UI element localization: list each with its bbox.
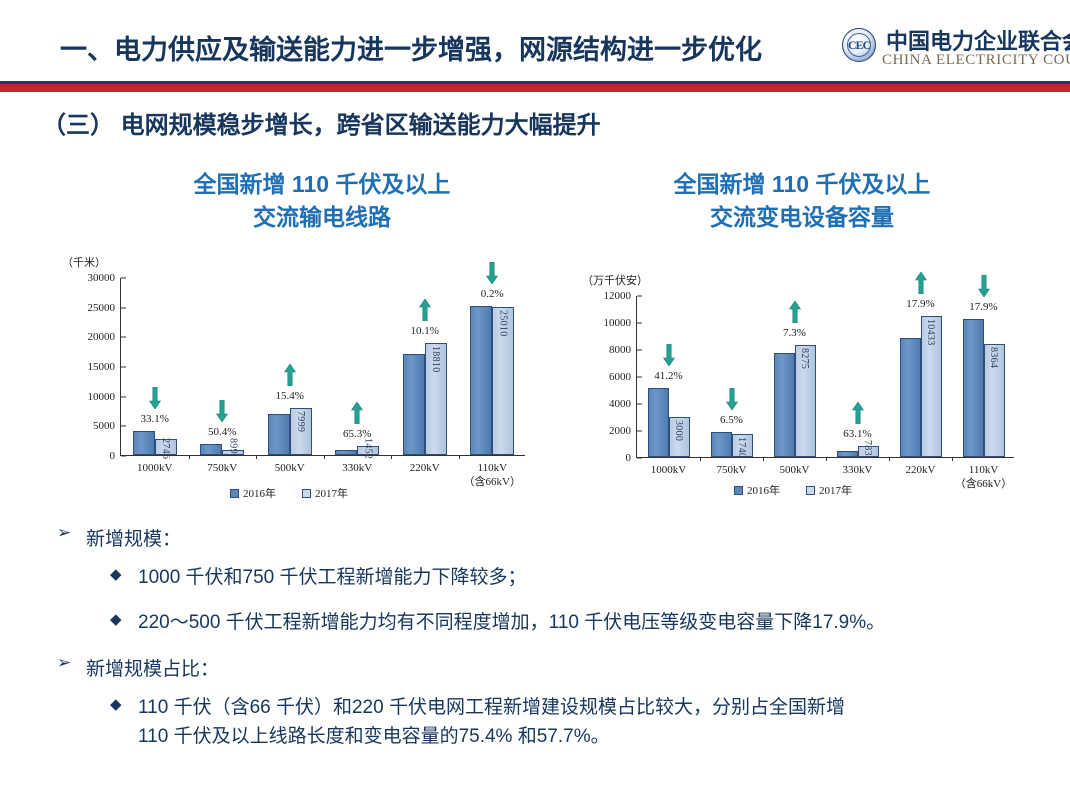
bullet-level1-text: 新增规模：: [86, 529, 181, 550]
chart-right-xtick-mark: [700, 457, 701, 461]
chart-left-xtick-label: 110kV（含66kV）: [464, 462, 521, 490]
chart-right-ytick-label: 8000: [577, 344, 637, 356]
chart-left-bar-value-2017: 2746: [160, 438, 171, 452]
chart-left-bar-2016: [335, 450, 357, 455]
chart-right-change-percent: 63.1%: [843, 428, 871, 440]
chart-left-xtick-mark: [391, 455, 392, 459]
chart-right-ytick-label: 4000: [577, 398, 637, 410]
chart-right-bar-2016: [648, 388, 669, 457]
chart-left-xtick-mark: [189, 455, 190, 459]
chart-right-legend: 2016年2017年: [734, 482, 852, 498]
chart-left-xtick-label: 500kV: [275, 462, 305, 476]
chart-transmission-lines: （千米）050001000015000200002500030000274633…: [52, 250, 552, 515]
chart-title-capacity-line1: 全国新增 110 千伏及以上: [612, 168, 992, 201]
chart-right-xtick-label: 500kV: [780, 464, 810, 478]
chart-title-lines: 全国新增 110 千伏及以上 交流输电线路: [132, 168, 512, 235]
chart-right-plot-area: 020004000600080001000012000300041.2%1000…: [636, 296, 1014, 458]
chart-left-ytick-mark: [121, 278, 126, 279]
bullet-level2: ◆110 千伏（含66 千伏）和220 千伏电网工程新增建设规模占比较大，分别占…: [52, 693, 1052, 752]
bullet-level2: ◆220～500 千伏工程新增能力均有不同程度增加，110 千伏电压等级变电容量…: [52, 608, 1052, 637]
chart-right-ytick-mark: [637, 350, 642, 351]
chart-right-bar-value-2017: 10433: [925, 319, 936, 454]
chart-right-change-percent: 6.5%: [720, 414, 743, 426]
chart-left-ytick-label: 25000: [61, 302, 121, 314]
bullet-level1: ➢新增规模：: [52, 524, 1052, 551]
chart-left-bar-value-2017: 7999: [295, 411, 306, 452]
chart-right-unit-label: （万千伏安）: [582, 272, 648, 288]
bullet-arrow-icon: ➢: [57, 523, 71, 543]
chart-right-xtick-mark: [763, 457, 764, 461]
chart-left-change-percent: 0.2%: [481, 288, 504, 300]
chart-left-ytick-mark: [121, 396, 126, 397]
chart-left-ytick-label: 30000: [61, 272, 121, 284]
chart-title-capacity: 全国新增 110 千伏及以上 交流变电设备容量: [612, 168, 992, 235]
chart-right-bar-2016: [837, 451, 858, 457]
legend-swatch-2016: [230, 489, 239, 498]
chart-right-ytick-mark: [637, 296, 642, 297]
bullet-level2-text: 110 千伏及以上线路长度和变电容量的75.4% 和57.7%。: [138, 722, 1052, 751]
chart-right-legend-item[interactable]: 2016年: [734, 482, 780, 498]
header-divider-red: [0, 84, 1070, 92]
chart-right-ytick-mark: [637, 458, 642, 459]
chart-left-xtick-label: 1000kV: [137, 462, 172, 476]
chart-right-bar-2016: [774, 353, 795, 457]
chart-left-change-arrow-up: [419, 299, 431, 321]
chart-right-bar-value-2017: 8364: [988, 347, 999, 454]
chart-left-xtick-mark: [324, 455, 325, 459]
chart-right-change-arrow-down: [978, 275, 990, 297]
slide-header: 一、电力供应及输送能力进一步增强，网源结构进一步优化 CEC 中国电力企业联合会…: [0, 0, 1070, 88]
chart-left-change-arrow-up: [351, 402, 363, 424]
chart-left-ytick-label: 10000: [61, 391, 121, 403]
chart-left-bar-2016: [403, 354, 425, 455]
chart-left-ytick-label: 5000: [61, 420, 121, 432]
chart-substation-capacity: （万千伏安）020004000600080001000012000300041.…: [578, 270, 1048, 515]
chart-left-xtick-label: 220kV: [410, 462, 440, 476]
logo-english-name: CHINA ELECTRICITY COUNCIL: [882, 52, 1070, 69]
bullet-level2: ◆1000 千伏和750 千伏工程新增能力下降较多；: [52, 563, 1052, 592]
chart-left-ytick-label: 15000: [61, 361, 121, 373]
chart-right-ytick-mark: [637, 323, 642, 324]
chart-left-ytick-mark: [121, 337, 126, 338]
chart-left-bar-2016: [268, 414, 290, 455]
chart-left-xtick-mark: [256, 455, 257, 459]
bullet-level1: ➢新增规模占比：: [52, 654, 1052, 681]
chart-left-change-arrow-down: [486, 262, 498, 284]
chart-title-lines-line2: 交流输电线路: [132, 201, 512, 234]
chart-left-ytick-mark: [121, 307, 126, 308]
chart-right-bar-value-2017: 783: [862, 440, 873, 454]
chart-right-change-percent: 17.9%: [906, 298, 934, 310]
chart-right-bar-value-2017: 8275: [799, 348, 810, 454]
chart-left-bar-2016: [200, 444, 222, 455]
legend-label: 2017年: [315, 485, 348, 501]
chart-left-change-percent: 15.4%: [276, 390, 304, 402]
bullet-diamond-icon: ◆: [110, 563, 122, 586]
chart-left-xtick-label: 330kV: [342, 462, 372, 476]
organization-logo: CEC 中国电力企业联合会 CHINA ELECTRICITY COUNCIL: [842, 24, 1070, 80]
chart-right-xtick-label: 330kV: [843, 464, 873, 478]
chart-right-change-percent: 7.3%: [783, 327, 806, 339]
chart-left-change-arrow-down: [149, 387, 161, 409]
cec-emblem-icon: CEC: [842, 28, 876, 62]
legend-swatch-2017: [806, 486, 815, 495]
chart-right-xtick-label: 110kV（含66kV）: [955, 464, 1012, 492]
chart-left-change-percent: 50.4%: [208, 426, 236, 438]
bullet-level2-text: 220～500 千伏工程新增能力均有不同程度增加，110 千伏电压等级变电容量下…: [138, 608, 1052, 637]
legend-label: 2016年: [747, 482, 780, 498]
bullet-diamond-icon: ◆: [110, 693, 122, 716]
chart-right-ytick-label: 12000: [577, 290, 637, 302]
chart-right-ytick-mark: [637, 431, 642, 432]
chart-right-change-arrow-up: [789, 301, 801, 323]
chart-title-lines-line1: 全国新增 110 千伏及以上: [132, 168, 512, 201]
chart-title-capacity-line2: 交流变电设备容量: [612, 201, 992, 234]
chart-right-ytick-mark: [637, 404, 642, 405]
chart-right-change-percent: 41.2%: [654, 370, 682, 382]
chart-left-xtick-label: 750kV: [207, 462, 237, 476]
chart-left-change-percent: 10.1%: [411, 325, 439, 337]
chart-left-legend: 2016年2017年: [230, 485, 348, 501]
chart-right-bar-2016: [711, 432, 732, 457]
chart-right-bar-value-2017: 1740: [736, 437, 747, 454]
chart-left-ytick-mark: [121, 456, 126, 457]
chart-left-bar-2016: [133, 431, 155, 455]
legend-label: 2017年: [819, 482, 852, 498]
chart-left-bar-2016: [470, 306, 492, 455]
chart-left-change-arrow-down: [216, 400, 228, 422]
chart-left-bar-value-2017: 25010: [497, 310, 508, 452]
bullet-diamond-icon: ◆: [110, 608, 122, 631]
chart-right-change-arrow-up: [915, 272, 927, 294]
chart-left-ytick-label: 0: [61, 450, 121, 462]
bullet-arrow-icon: ➢: [57, 653, 71, 673]
bullet-level1-text: 新增规模占比：: [86, 659, 219, 680]
page-title: 一、电力供应及输送能力进一步增强，网源结构进一步优化: [60, 28, 762, 67]
chart-right-ytick-label: 0: [577, 452, 637, 464]
chart-right-change-arrow-down: [663, 344, 675, 366]
cec-emblem-text: CEC: [843, 29, 875, 61]
chart-right-xtick-label: 1000kV: [651, 464, 686, 478]
chart-right-change-percent: 17.9%: [969, 301, 997, 313]
chart-right-ytick-label: 2000: [577, 425, 637, 437]
chart-right-change-arrow-down: [726, 388, 738, 410]
chart-right-xtick-label: 220kV: [906, 464, 936, 478]
chart-right-bar-2016: [963, 319, 984, 457]
chart-left-ytick-mark: [121, 367, 126, 368]
chart-left-bar-value-2017: 899: [227, 438, 238, 452]
chart-right-ytick-mark: [637, 377, 642, 378]
chart-right-change-arrow-up: [852, 402, 864, 424]
chart-right-xtick-label: 750kV: [717, 464, 747, 478]
chart-right-xtick-mark: [889, 457, 890, 461]
chart-right-ytick-label: 10000: [577, 317, 637, 329]
chart-right-legend-item[interactable]: 2017年: [806, 482, 852, 498]
chart-left-ytick-label: 20000: [61, 331, 121, 343]
legend-swatch-2016: [734, 486, 743, 495]
bullet-level2-text: 1000 千伏和750 千伏工程新增能力下降较多；: [138, 563, 1052, 592]
chart-right-bar-value-2017: 3000: [673, 420, 684, 455]
legend-swatch-2017: [302, 489, 311, 498]
chart-left-ytick-mark: [121, 426, 126, 427]
chart-left-plot-area: 050001000015000200002500030000274633.1%1…: [120, 278, 525, 456]
chart-left-legend-item[interactable]: 2017年: [302, 485, 348, 501]
chart-left-change-percent: 65.3%: [343, 428, 371, 440]
chart-left-change-percent: 33.1%: [141, 413, 169, 425]
section-heading: （三） 电网规模稳步增长，跨省区输送能力大幅提升: [42, 105, 601, 140]
chart-left-bar-value-2017: 18810: [430, 346, 441, 452]
chart-left-legend-item[interactable]: 2016年: [230, 485, 276, 501]
bullet-level2-text: 110 千伏（含66 千伏）和220 千伏电网工程新增建设规模占比较大，分别占全…: [138, 693, 1052, 722]
chart-left-unit-label: （千米）: [62, 254, 106, 270]
chart-right-xtick-mark: [952, 457, 953, 461]
chart-right-xtick-mark: [826, 457, 827, 461]
chart-right-bar-2016: [900, 338, 921, 457]
chart-left-change-arrow-up: [284, 364, 296, 386]
chart-right-ytick-label: 6000: [577, 371, 637, 383]
legend-label: 2016年: [243, 485, 276, 501]
bullet-list: ➢新增规模：◆1000 千伏和750 千伏工程新增能力下降较多；◆220～500…: [52, 524, 1052, 768]
chart-left-xtick-mark: [459, 455, 460, 459]
